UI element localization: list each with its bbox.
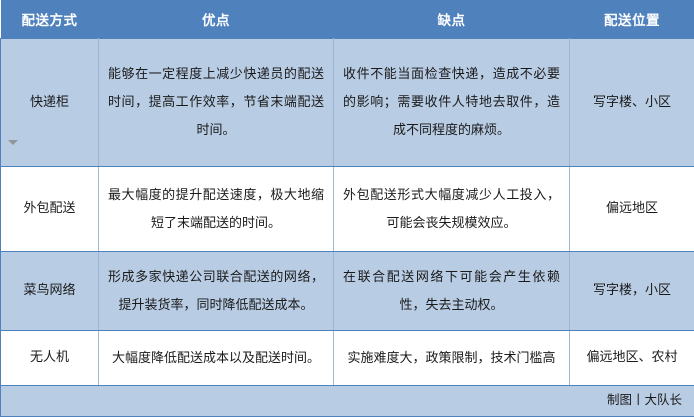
cell-mode: 外包配送 [1,166,99,251]
delivery-comparison-table: 配送方式 优点 缺点 配送位置 快递柜 能够在一定程度上减少快递员的配送时间，提… [0,0,694,417]
table-row: 菜鸟网络 形成多家快递公司联合配送的网络，提升装货率，同时降低配送成本。 在联合… [1,251,694,330]
delivery-comparison-table-container: 配送方式 优点 缺点 配送位置 快递柜 能够在一定程度上减少快递员的配送时间，提… [0,0,694,416]
cell-location: 偏远地区 [570,166,694,251]
cell-mode: 无人机 [1,330,99,385]
cell-mode: 菜鸟网络 [1,251,99,330]
cell-cons: 在联合配送网络下可能会产生依赖性，失去主动权。 [334,251,570,330]
table-body: 快递柜 能够在一定程度上减少快递员的配送时间，提高工作效率，节省末端配送时间。 … [1,38,694,385]
cell-location: 写字楼，小区 [570,251,694,330]
cell-cons: 实施难度大，政策限制，技术门槛高 [334,330,570,385]
cell-pros: 最大幅度的提升配送速度，极大地缩短了末端配送的时间。 [99,166,334,251]
table-row: 快递柜 能够在一定程度上减少快递员的配送时间，提高工作效率，节省末端配送时间。 … [1,38,694,166]
cell-location: 偏远地区、农村 [570,330,694,385]
cell-location: 写字楼、小区 [570,38,694,166]
table-header: 配送方式 优点 缺点 配送位置 [1,0,694,38]
column-header-location: 配送位置 [570,0,694,38]
column-header-mode: 配送方式 [1,0,99,38]
table-row: 外包配送 最大幅度的提升配送速度，极大地缩短了末端配送的时间。 外包配送形式大幅… [1,166,694,251]
credit-row: 制图丨大队长 [1,385,694,416]
table-row: 无人机 大幅度降低配送成本以及配送时间。 实施难度大，政策限制，技术门槛高 偏远… [1,330,694,385]
header-row: 配送方式 优点 缺点 配送位置 [1,0,694,38]
cell-pros: 能够在一定程度上减少快递员的配送时间，提高工作效率，节省末端配送时间。 [99,38,334,166]
triangle-down-icon [8,140,18,145]
cell-cons: 收件不能当面检查快递，造成不必要的影响；需要收件人特地去取件，造成不同程度的麻烦… [334,38,570,166]
table-footer: 制图丨大队长 [1,385,694,416]
column-header-pros: 优点 [99,0,334,38]
cell-pros: 大幅度降低配送成本以及配送时间。 [99,330,334,385]
column-header-cons: 缺点 [334,0,570,38]
cell-mode: 快递柜 [1,38,99,166]
cell-cons: 外包配送形式大幅度减少人工投入，可能会丧失规模效应。 [334,166,570,251]
credit-label: 制图丨大队长 [1,385,694,416]
cell-pros: 形成多家快递公司联合配送的网络，提升装货率，同时降低配送成本。 [99,251,334,330]
